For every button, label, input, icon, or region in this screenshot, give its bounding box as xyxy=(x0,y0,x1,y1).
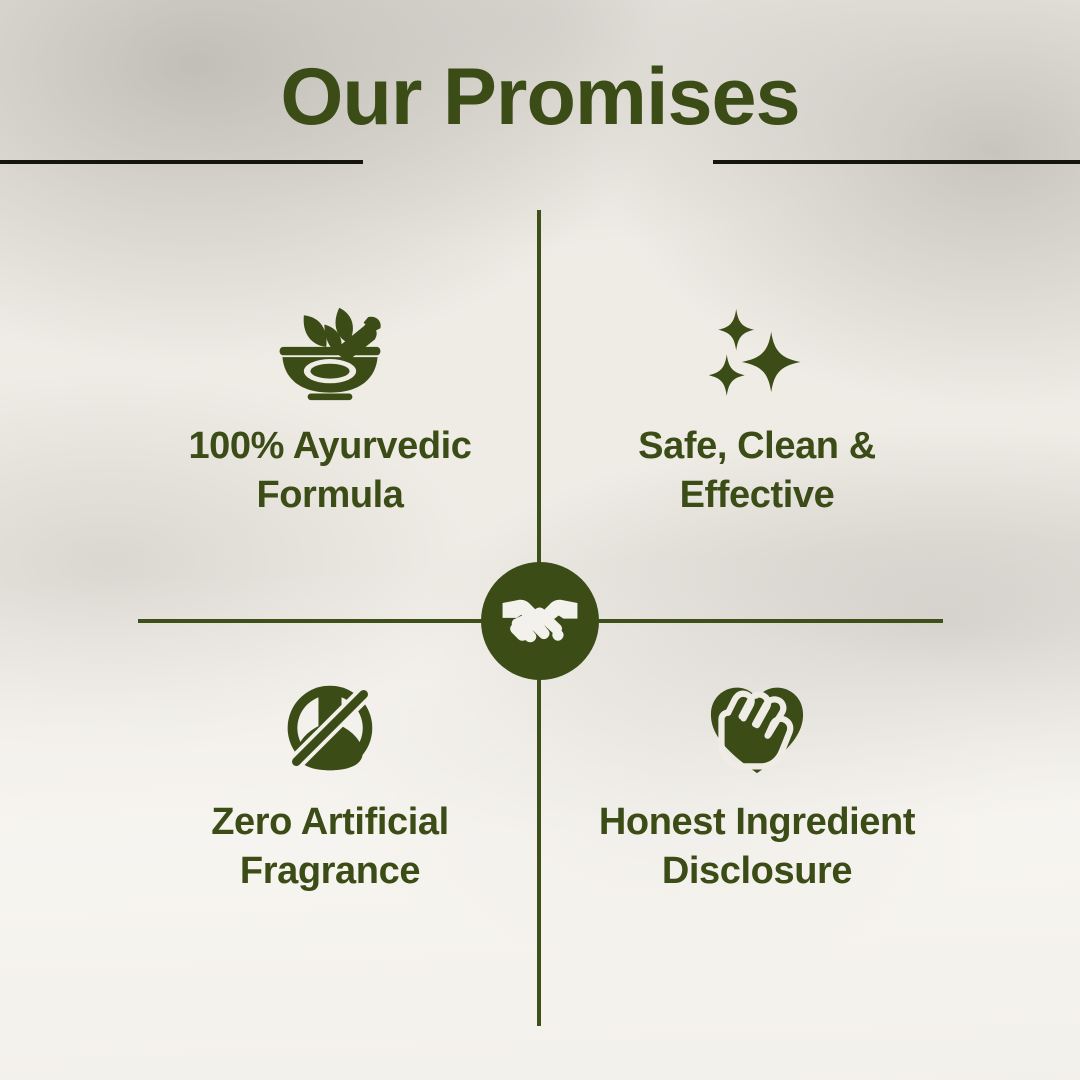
heart-in-hand-icon xyxy=(705,676,809,780)
page-title: Our Promises xyxy=(0,57,1080,138)
promise-item-safe-clean-effective: Safe, Clean & Effective xyxy=(537,300,977,521)
header-rule-right xyxy=(713,160,1080,164)
promise-label: 100% Ayurvedic Formula xyxy=(150,422,510,521)
handshake-icon xyxy=(501,582,579,660)
promise-item-honest-ingredient-disclosure: Honest Ingredient Disclosure xyxy=(537,676,977,897)
no-flask-icon xyxy=(280,676,380,780)
promise-label: Honest Ingredient Disclosure xyxy=(547,798,967,897)
promise-label: Zero Artificial Fragrance xyxy=(165,798,495,897)
sparkles-icon xyxy=(705,300,809,404)
promise-label: Safe, Clean & Effective xyxy=(592,422,922,521)
center-trust-badge xyxy=(481,562,599,680)
promise-item-ayurvedic-formula: 100% Ayurvedic Formula xyxy=(110,300,550,521)
promise-item-zero-artificial-fragrance: Zero Artificial Fragrance xyxy=(110,676,550,897)
our-promises-poster: Our Promises xyxy=(0,0,1080,1080)
header-rule-left xyxy=(0,160,363,164)
mortar-and-pestle-icon xyxy=(274,300,386,404)
